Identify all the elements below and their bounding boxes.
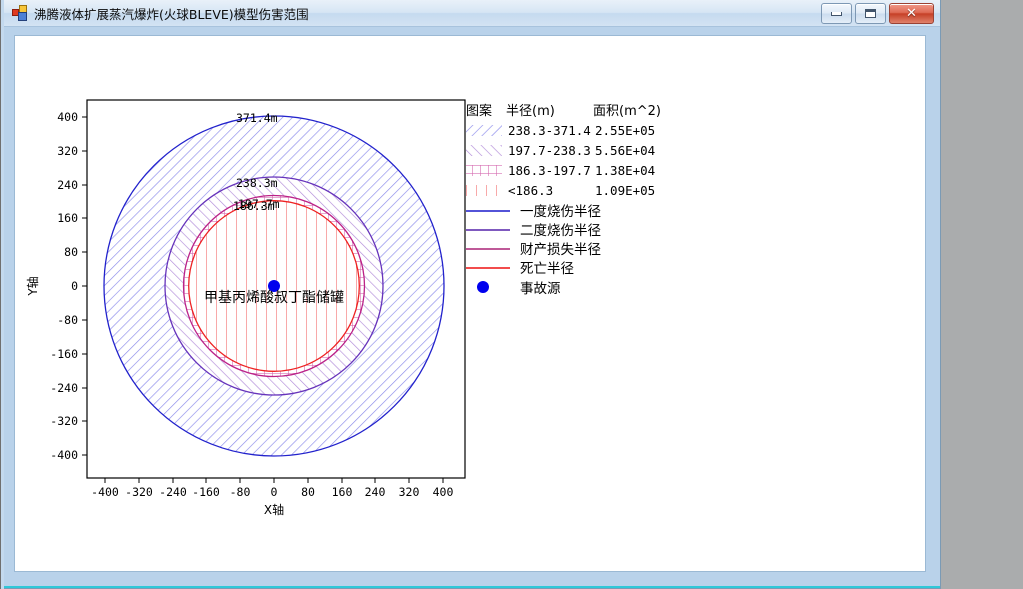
- svg-text:400: 400: [433, 485, 454, 499]
- svg-text:-400: -400: [50, 448, 78, 462]
- x-tick: -320: [125, 478, 153, 499]
- svg-text:-320: -320: [50, 414, 78, 428]
- x-axis: -400 -320 -240 -160 -80 0 80 160 240 320…: [91, 478, 453, 499]
- center-tank-label: 甲基丙烯酸叔丁酯储罐: [204, 289, 344, 306]
- y-tick: 240: [57, 178, 87, 192]
- y-tick: 400: [57, 110, 87, 124]
- legend-radius-value: 197.7-238.3: [508, 143, 591, 158]
- svg-text:-320: -320: [125, 485, 153, 499]
- maximize-button[interactable]: [855, 3, 886, 24]
- x-tick: 400: [433, 478, 454, 499]
- legend-line-item: 死亡半径: [466, 261, 574, 277]
- close-button[interactable]: ✕: [889, 3, 934, 24]
- svg-text:400: 400: [57, 110, 78, 124]
- legend-radius-value: 238.3-371.4: [508, 123, 591, 138]
- legend-marker-label: 事故源: [520, 281, 561, 297]
- x-tick: -160: [192, 478, 220, 499]
- y-axis-title: Y轴: [25, 276, 40, 296]
- legend-row: 186.3-197.7 1.38E+04: [466, 163, 655, 178]
- maximize-icon: [865, 9, 876, 18]
- client-area: 371.4m 238.3m 197.7m 186.3m 甲基丙烯酸叔丁酯储罐 4…: [15, 36, 925, 571]
- legend-area-value: 1.38E+04: [595, 163, 655, 178]
- close-icon: ✕: [906, 7, 917, 20]
- minimize-icon: [831, 12, 842, 16]
- legend-swatch-crosshatch: [466, 165, 502, 176]
- annotation-238: 238.3m: [236, 176, 278, 190]
- legend-line-item: 一度烧伤半径: [466, 204, 601, 220]
- svg-text:320: 320: [399, 485, 420, 499]
- legend-swatch-diag-backward: [466, 145, 502, 156]
- legend-area-value: 1.09E+05: [595, 183, 655, 198]
- svg-text:-80: -80: [57, 313, 78, 327]
- window-controls: ✕: [821, 3, 934, 24]
- damage-range-chart: 371.4m 238.3m 197.7m 186.3m 甲基丙烯酸叔丁酯储罐 4…: [16, 37, 926, 572]
- legend-row: 197.7-238.3 5.56E+04: [466, 143, 655, 158]
- minimize-button[interactable]: [821, 3, 852, 24]
- app-window: 沸腾液体扩展蒸汽爆炸(火球BLEVE)模型伤害范围 ✕: [0, 0, 941, 589]
- svg-text:-400: -400: [91, 485, 119, 499]
- x-tick: 0: [271, 478, 278, 499]
- x-tick: 240: [365, 478, 386, 499]
- legend-line-item: 财产损失半径: [466, 242, 601, 258]
- y-tick: -80: [57, 313, 87, 327]
- legend-row: 238.3-371.4 2.55E+05: [466, 123, 655, 138]
- svg-text:80: 80: [64, 245, 78, 259]
- legend-row: <186.3 1.09E+05: [466, 183, 655, 198]
- x-tick: 160: [332, 478, 353, 499]
- x-tick: -240: [159, 478, 187, 499]
- legend-area-value: 2.55E+05: [595, 123, 655, 138]
- annotation-371: 371.4m: [236, 111, 278, 125]
- y-tick: -240: [50, 381, 87, 395]
- svg-text:160: 160: [57, 211, 78, 225]
- legend-line-label: 一度烧伤半径: [520, 204, 601, 220]
- y-tick: -320: [50, 414, 87, 428]
- y-tick: -400: [50, 448, 87, 462]
- legend-radius-value: 186.3-197.7: [508, 163, 591, 178]
- window-title: 沸腾液体扩展蒸汽爆炸(火球BLEVE)模型伤害范围: [34, 4, 309, 23]
- svg-text:-160: -160: [192, 485, 220, 499]
- svg-text:-240: -240: [50, 381, 78, 395]
- app-squares-icon: [12, 5, 28, 21]
- x-axis-title: X轴: [264, 502, 284, 517]
- legend: 图案 半径(m) 面积(m^2) 238.3-371.4 2.55E+05 19…: [466, 104, 661, 297]
- svg-text:0: 0: [71, 279, 78, 293]
- svg-text:160: 160: [332, 485, 353, 499]
- svg-text:0: 0: [271, 485, 278, 499]
- legend-swatch-diag-forward: [466, 125, 502, 136]
- legend-swatch-vertical: [466, 185, 502, 196]
- y-tick: -160: [50, 347, 87, 361]
- legend-line-label: 财产损失半径: [520, 242, 601, 258]
- legend-header-area: 面积(m^2): [593, 104, 661, 119]
- legend-header-pattern: 图案: [466, 104, 492, 119]
- svg-text:240: 240: [57, 178, 78, 192]
- svg-text:240: 240: [365, 485, 386, 499]
- x-tick: -400: [91, 478, 119, 499]
- y-tick: 320: [57, 144, 87, 158]
- x-tick: -80: [230, 478, 251, 499]
- legend-area-value: 5.56E+04: [595, 143, 655, 158]
- y-tick: 160: [57, 211, 87, 225]
- annotation-186: 186.3m: [233, 199, 275, 213]
- svg-text:80: 80: [301, 485, 315, 499]
- legend-header-radius: 半径(m): [506, 104, 555, 119]
- x-tick: 320: [399, 478, 420, 499]
- y-tick: 80: [64, 245, 87, 259]
- y-tick: 0: [71, 279, 87, 293]
- svg-text:-240: -240: [159, 485, 187, 499]
- legend-radius-value: <186.3: [508, 183, 553, 198]
- y-axis: 400 320 240 160 80 0 -80 -160 -240 -320 …: [50, 110, 87, 462]
- legend-line-item: 二度烧伤半径: [466, 223, 601, 239]
- window-bottom-accent: [4, 586, 940, 588]
- x-tick: 80: [301, 478, 315, 499]
- legend-source-dot-icon: [477, 281, 489, 293]
- window-left-edge: [0, 0, 4, 589]
- svg-text:320: 320: [57, 144, 78, 158]
- legend-marker-item: 事故源: [477, 281, 561, 297]
- svg-text:-80: -80: [230, 485, 251, 499]
- title-bar[interactable]: 沸腾液体扩展蒸汽爆炸(火球BLEVE)模型伤害范围 ✕: [4, 0, 940, 27]
- svg-text:-160: -160: [50, 347, 78, 361]
- legend-line-label: 死亡半径: [520, 261, 574, 277]
- legend-line-label: 二度烧伤半径: [520, 223, 601, 239]
